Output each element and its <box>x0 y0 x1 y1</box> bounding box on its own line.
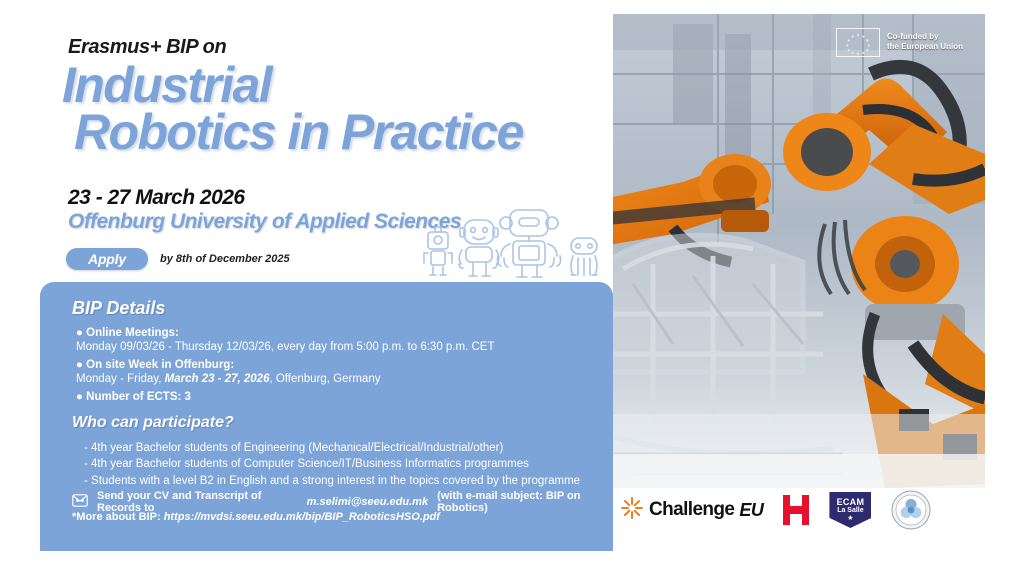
ecam-logo-line-2: La Salle <box>837 507 863 514</box>
who-can-participate-title: Who can participate? <box>72 414 234 432</box>
robot-large-icon <box>497 210 560 277</box>
kicker-text: Erasmus+ BIP on <box>68 36 226 59</box>
robot-small-left-icon <box>424 227 452 275</box>
onsite-detail-emphasis: March 23 - 27, 2026 <box>165 373 270 385</box>
university-seal-logo <box>891 490 931 530</box>
headline-line-2: Robotics in Practice <box>62 109 602 156</box>
challenge-eu-logo: Challenge EU <box>620 496 763 525</box>
list-item: - 4th year Bachelor students of Engineer… <box>84 440 580 456</box>
bullet-onsite-week: ● On site Week in Offenburg: Monday - Fr… <box>76 358 380 386</box>
challenge-logo-suffix: EU <box>739 500 763 521</box>
list-item: - 4th year Bachelor students of Computer… <box>84 456 580 472</box>
eu-badge-text: Co-funded by the European Union <box>887 32 963 52</box>
more-about-label: *More about BIP: <box>72 511 161 523</box>
robot-medium-icon <box>459 220 499 276</box>
starburst-icon <box>620 496 644 525</box>
contact-subject-hint: (with e-mail subject: BIP on Robotics) <box>437 490 613 514</box>
envelope-icon <box>72 494 88 510</box>
eu-badge-line-1: Co-funded by <box>887 32 963 42</box>
onsite-detail-post: , Offenburg, Germany <box>269 373 380 385</box>
eu-badge-line-2: the European Union <box>887 42 963 52</box>
bullet-ects-label: ● Number of ECTS: 3 <box>76 390 191 404</box>
bullet-onsite-week-label: ● On site Week in Offenburg: <box>76 358 380 372</box>
poster-root: Erasmus+ BIP on Industrial Robotics in P… <box>0 0 1024 569</box>
star-icon: ★ <box>847 515 853 522</box>
bullet-online-meetings-label: ● Online Meetings: <box>76 326 494 340</box>
page-title: Industrial Robotics in Practice <box>62 62 602 156</box>
eu-flag-icon <box>836 28 880 57</box>
eu-cofunded-badge: Co-funded by the European Union <box>836 26 976 58</box>
factory-robots-image <box>613 14 985 488</box>
robot-small-right-icon <box>571 238 597 275</box>
h-logo <box>783 495 809 525</box>
bullet-online-meetings: ● Online Meetings: Monday 09/03/26 - Thu… <box>76 326 494 354</box>
who-can-participate-list: - 4th year Bachelor students of Engineer… <box>84 440 580 489</box>
apply-deadline: by 8th of December 2025 <box>160 253 290 265</box>
bip-details-panel: BIP Details ● Online Meetings: Monday 09… <box>40 282 613 551</box>
event-dates: 23 - 27 March 2026 <box>68 186 245 210</box>
contact-email[interactable]: m.selimi@seeu.edu.mk <box>307 496 428 508</box>
ecam-logo-line-1: ECAM <box>837 498 865 507</box>
challenge-logo-text: Challenge <box>649 499 734 521</box>
ecam-lasalle-logo: ECAM La Salle ★ <box>829 492 871 528</box>
list-item: - Students with a level B2 in English an… <box>84 473 580 489</box>
bullet-ects: ● Number of ECTS: 3 <box>76 390 191 404</box>
onsite-detail-pre: Monday - Friday, <box>76 373 165 385</box>
partner-logos: Challenge EU ECAM La Salle ★ <box>620 487 980 533</box>
bullet-online-meetings-detail: Monday 09/03/26 - Thursday 12/03/26, eve… <box>76 340 494 354</box>
host-university: Offenburg University of Applied Sciences <box>68 210 461 234</box>
apply-button[interactable]: Apply <box>66 248 148 270</box>
more-about-line: *More about BIP: https://mvdsi.seeu.edu.… <box>72 511 440 523</box>
bullet-onsite-week-detail: Monday - Friday, March 23 - 27, 2026, Of… <box>76 372 380 386</box>
more-about-url[interactable]: https://mvdsi.seeu.edu.mk/bip/BIP_Roboti… <box>164 511 440 523</box>
hero-photo <box>613 14 985 488</box>
panel-title: BIP Details <box>72 298 165 319</box>
